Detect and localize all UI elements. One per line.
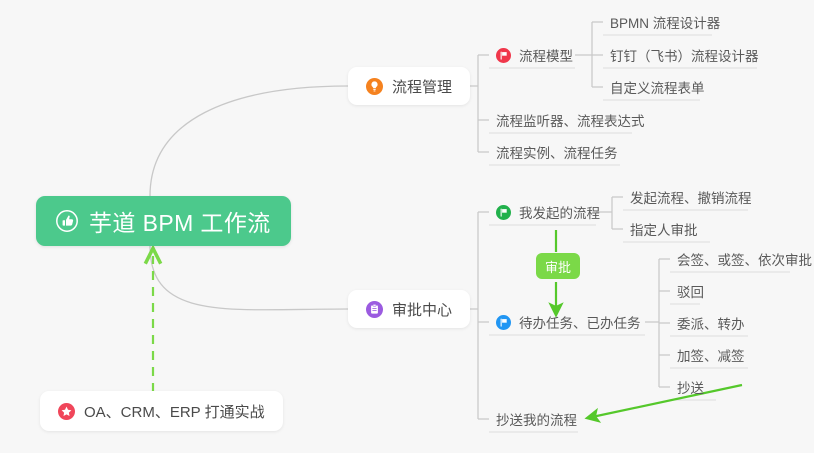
node-process-instance-label: 流程实例、流程任务 xyxy=(496,142,618,162)
root-node[interactable]: 芋道 BPM 工作流 xyxy=(36,196,291,246)
node-my-initiated[interactable]: 我发起的流程 xyxy=(489,199,607,225)
branch-approval-center[interactable]: 审批中心 xyxy=(348,290,470,328)
branch-process-management[interactable]: 流程管理 xyxy=(348,67,470,105)
flag-green-icon xyxy=(496,205,511,220)
node-bpmn-designer[interactable]: BPMN 流程设计器 xyxy=(603,9,727,35)
node-start-cancel-process[interactable]: 发起流程、撤销流程 xyxy=(623,184,759,210)
approval-flow-badge-label: 审批 xyxy=(545,257,571,276)
node-process-listener-label: 流程监听器、流程表达式 xyxy=(496,110,645,130)
node-process-listener[interactable]: 流程监听器、流程表达式 xyxy=(489,107,652,133)
branch-approval-center-label: 审批中心 xyxy=(392,299,452,320)
node-add-remove-sign-label: 加签、减签 xyxy=(677,345,745,365)
node-todo-done-tasks-label: 待办任务、已办任务 xyxy=(519,312,641,332)
root-label: 芋道 BPM 工作流 xyxy=(89,204,271,238)
node-process-model-label: 流程模型 xyxy=(519,45,573,65)
node-process-instance[interactable]: 流程实例、流程任务 xyxy=(489,139,625,165)
node-countersign-label: 会签、或签、依次审批 xyxy=(677,249,812,269)
node-designated-approval[interactable]: 指定人审批 xyxy=(623,216,705,242)
node-delegate-transfer[interactable]: 委派、转办 xyxy=(670,310,752,336)
node-designated-approval-label: 指定人审批 xyxy=(630,219,698,239)
floating-node-integration[interactable]: OA、CRM、ERP 打通实战 xyxy=(40,391,283,431)
node-todo-done-tasks[interactable]: 待办任务、已办任务 xyxy=(489,309,648,335)
node-dingtalk-feishu-designer[interactable]: 钉钉（飞书）流程设计器 xyxy=(603,42,766,68)
floating-node-label: OA、CRM、ERP 打通实战 xyxy=(84,401,265,422)
node-cc-to-me-label: 抄送我的流程 xyxy=(496,409,577,429)
node-countersign[interactable]: 会签、或签、依次审批 xyxy=(670,246,814,272)
node-cc[interactable]: 抄送 xyxy=(670,374,711,400)
flag-red-icon xyxy=(496,48,511,63)
node-delegate-transfer-label: 委派、转办 xyxy=(677,313,745,333)
node-process-model[interactable]: 流程模型 xyxy=(489,42,580,68)
node-my-initiated-label: 我发起的流程 xyxy=(519,202,600,222)
node-reject[interactable]: 驳回 xyxy=(670,278,711,304)
node-cc-label: 抄送 xyxy=(677,377,704,397)
lightbulb-icon xyxy=(366,78,383,95)
node-custom-process-form-label: 自定义流程表单 xyxy=(610,77,705,97)
node-custom-process-form[interactable]: 自定义流程表单 xyxy=(603,74,712,100)
node-start-cancel-process-label: 发起流程、撤销流程 xyxy=(630,187,752,207)
mindmap-canvas: 芋道 BPM 工作流 OA、CRM、ERP 打通实战 流程管理 xyxy=(0,0,814,453)
node-cc-to-me[interactable]: 抄送我的流程 xyxy=(489,406,584,432)
star-icon xyxy=(58,403,75,420)
thumbs-up-icon xyxy=(56,210,78,232)
clipboard-icon xyxy=(366,301,383,318)
node-add-remove-sign[interactable]: 加签、减签 xyxy=(670,342,752,368)
branch-process-management-label: 流程管理 xyxy=(392,76,452,97)
flag-blue-icon xyxy=(496,315,511,330)
approval-flow-badge: 审批 xyxy=(536,253,580,279)
node-dingtalk-feishu-designer-label: 钉钉（飞书）流程设计器 xyxy=(610,45,759,65)
node-reject-label: 驳回 xyxy=(677,281,704,301)
node-bpmn-designer-label: BPMN 流程设计器 xyxy=(610,12,720,32)
